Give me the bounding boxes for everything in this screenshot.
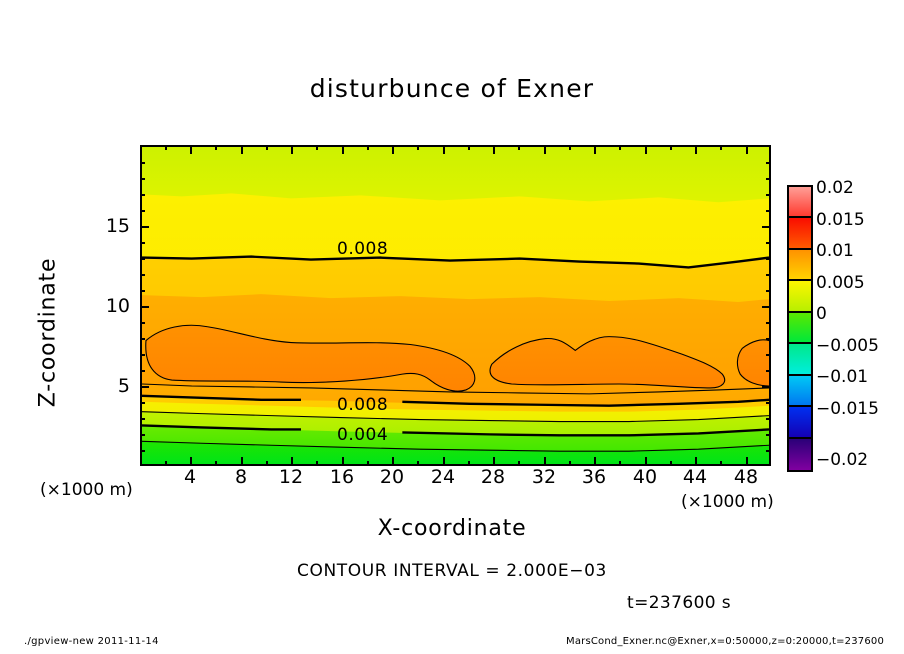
yticklabel-5: 5 bbox=[86, 375, 130, 397]
ytick-right-minor bbox=[766, 338, 771, 340]
xtick-bottom-48 bbox=[746, 457, 748, 466]
contour-interval-text: CONTOUR INTERVAL = 2.000E−03 bbox=[0, 561, 904, 581]
xtick-top-8 bbox=[241, 145, 243, 154]
ytick-left-minor bbox=[140, 450, 145, 452]
xticklabel-48: 48 bbox=[723, 466, 769, 488]
ytick-left-minor bbox=[140, 258, 145, 260]
ytick-left-minor bbox=[140, 210, 145, 212]
xtick-top-36 bbox=[594, 145, 596, 154]
x-axis-title: X-coordinate bbox=[0, 516, 904, 541]
ytick-right-minor bbox=[766, 290, 771, 292]
ytick-right-minor bbox=[766, 274, 771, 276]
ytick-right-minor bbox=[766, 402, 771, 404]
xtick-bottom-8 bbox=[241, 457, 243, 466]
xtick-top-minor bbox=[215, 145, 217, 150]
colorbar-label-0.005: 0.005 bbox=[816, 273, 865, 293]
ytick-right-minor bbox=[766, 450, 771, 452]
xtick-top-minor bbox=[619, 145, 621, 150]
xtick-bottom-4 bbox=[190, 457, 192, 466]
ytick-right-5 bbox=[762, 386, 771, 388]
xtick-bottom-12 bbox=[291, 457, 293, 466]
colorbar-band-1 bbox=[789, 218, 811, 249]
ytick-left-minor bbox=[140, 274, 145, 276]
ytick-right-minor bbox=[766, 418, 771, 420]
xtick-top-32 bbox=[544, 145, 546, 154]
colorbar-band-5 bbox=[789, 344, 811, 375]
ytick-left-minor bbox=[140, 418, 145, 420]
ytick-right-minor bbox=[766, 322, 771, 324]
xtick-bottom-16 bbox=[342, 457, 344, 466]
x-unit-left: (×1000 m) bbox=[40, 480, 133, 500]
colorbar-band-7 bbox=[789, 407, 811, 438]
time-stamp-text: t=237600 s bbox=[627, 593, 731, 613]
xtick-top-48 bbox=[746, 145, 748, 154]
xticklabel-44: 44 bbox=[672, 466, 718, 488]
colorbar-label-0: 0 bbox=[816, 304, 827, 324]
xticklabel-16: 16 bbox=[319, 466, 365, 488]
xticklabel-24: 24 bbox=[420, 466, 466, 488]
ytick-right-minor bbox=[766, 354, 771, 356]
xtick-bottom-36 bbox=[594, 457, 596, 466]
ytick-left-minor bbox=[140, 242, 145, 244]
xtick-bottom-40 bbox=[645, 457, 647, 466]
ytick-right-10 bbox=[762, 306, 771, 308]
xtick-bottom-28 bbox=[493, 457, 495, 466]
ytick-right-minor bbox=[766, 258, 771, 260]
xticklabel-20: 20 bbox=[369, 466, 415, 488]
xticklabel-4: 4 bbox=[167, 466, 213, 488]
contour-label-lower-0008: 0.008 bbox=[337, 395, 388, 415]
ytick-left-minor bbox=[140, 402, 145, 404]
xtick-top-40 bbox=[645, 145, 647, 154]
colorbar-label--0.005: −0.005 bbox=[816, 336, 879, 356]
contour-label-lower-0004: 0.004 bbox=[337, 425, 388, 445]
xtick-top-minor bbox=[165, 145, 167, 150]
ytick-left-minor bbox=[140, 434, 145, 436]
xtick-bottom-44 bbox=[695, 457, 697, 466]
xtick-top-minor bbox=[670, 145, 672, 150]
yticklabel-15: 15 bbox=[86, 215, 130, 237]
colorbar-label--0.015: −0.015 bbox=[816, 399, 879, 419]
xtick-top-24 bbox=[443, 145, 445, 154]
xticklabel-8: 8 bbox=[218, 466, 264, 488]
xtick-top-minor bbox=[367, 145, 369, 150]
ytick-right-minor bbox=[766, 370, 771, 372]
colorbar-label-0.02: 0.02 bbox=[816, 178, 854, 198]
xtick-top-12 bbox=[291, 145, 293, 154]
yticklabel-10: 10 bbox=[86, 295, 130, 317]
colorbar-label--0.01: −0.01 bbox=[816, 367, 868, 387]
page-title: disturbunce of Exner bbox=[0, 74, 904, 103]
colorbar-band-2 bbox=[789, 250, 811, 281]
colorbar bbox=[787, 185, 813, 472]
colorbar-label--0.02: −0.02 bbox=[816, 450, 868, 470]
xticklabel-12: 12 bbox=[268, 466, 314, 488]
ytick-left-minor bbox=[140, 194, 145, 196]
footer-command-text: ./gpview-new 2011-11-14 bbox=[24, 636, 159, 647]
colorbar-band-6 bbox=[789, 376, 811, 407]
colorbar-label-0.01: 0.01 bbox=[816, 241, 854, 261]
ytick-left-minor bbox=[140, 290, 145, 292]
colorbar-band-3 bbox=[789, 281, 811, 312]
xtick-bottom-32 bbox=[544, 457, 546, 466]
ytick-left-minor bbox=[140, 162, 145, 164]
ytick-right-15 bbox=[762, 226, 771, 228]
ytick-left-minor bbox=[140, 370, 145, 372]
xtick-bottom-minor bbox=[720, 461, 722, 466]
ytick-left-minor bbox=[140, 338, 145, 340]
xtick-top-28 bbox=[493, 145, 495, 154]
xtick-bottom-minor bbox=[215, 461, 217, 466]
xtick-top-minor bbox=[720, 145, 722, 150]
xtick-bottom-minor bbox=[417, 461, 419, 466]
ytick-right-minor bbox=[766, 242, 771, 244]
xtick-bottom-minor bbox=[518, 461, 520, 466]
x-unit-right: (×1000 m) bbox=[681, 492, 774, 512]
xtick-bottom-minor bbox=[619, 461, 621, 466]
xtick-top-16 bbox=[342, 145, 344, 154]
ytick-right-minor bbox=[766, 162, 771, 164]
ytick-left-minor bbox=[140, 322, 145, 324]
ytick-left-10 bbox=[140, 306, 149, 308]
contour-label-upper-0008: 0.008 bbox=[337, 239, 388, 259]
ytick-left-minor bbox=[140, 178, 145, 180]
ytick-right-minor bbox=[766, 434, 771, 436]
ytick-right-minor bbox=[766, 210, 771, 212]
xtick-top-minor bbox=[266, 145, 268, 150]
xtick-top-minor bbox=[417, 145, 419, 150]
contour-plot-frame bbox=[140, 145, 771, 466]
colorbar-band-0 bbox=[789, 187, 811, 218]
ytick-left-minor bbox=[140, 354, 145, 356]
xtick-bottom-20 bbox=[392, 457, 394, 466]
colorbar-band-4 bbox=[789, 313, 811, 344]
xtick-top-minor bbox=[518, 145, 520, 150]
xticklabel-28: 28 bbox=[470, 466, 516, 488]
contour-field bbox=[142, 147, 769, 464]
xticklabel-32: 32 bbox=[521, 466, 567, 488]
ytick-right-minor bbox=[766, 178, 771, 180]
xtick-top-minor bbox=[569, 145, 571, 150]
colorbar-band-8 bbox=[789, 439, 811, 470]
xtick-top-44 bbox=[695, 145, 697, 154]
xticklabel-36: 36 bbox=[571, 466, 617, 488]
xtick-top-20 bbox=[392, 145, 394, 154]
xtick-top-minor bbox=[468, 145, 470, 150]
colorbar-label-0.015: 0.015 bbox=[816, 210, 865, 230]
xtick-top-4 bbox=[190, 145, 192, 154]
ytick-left-15 bbox=[140, 226, 149, 228]
y-axis-title: Z-coordinate bbox=[36, 223, 61, 443]
xtick-bottom-24 bbox=[443, 457, 445, 466]
ytick-right-minor bbox=[766, 194, 771, 196]
xtick-bottom-minor bbox=[316, 461, 318, 466]
footer-source-text: MarsCond_Exner.nc@Exner,x=0:50000,z=0:20… bbox=[566, 636, 884, 647]
xtick-top-minor bbox=[316, 145, 318, 150]
xticklabel-40: 40 bbox=[622, 466, 668, 488]
ytick-left-5 bbox=[140, 386, 149, 388]
